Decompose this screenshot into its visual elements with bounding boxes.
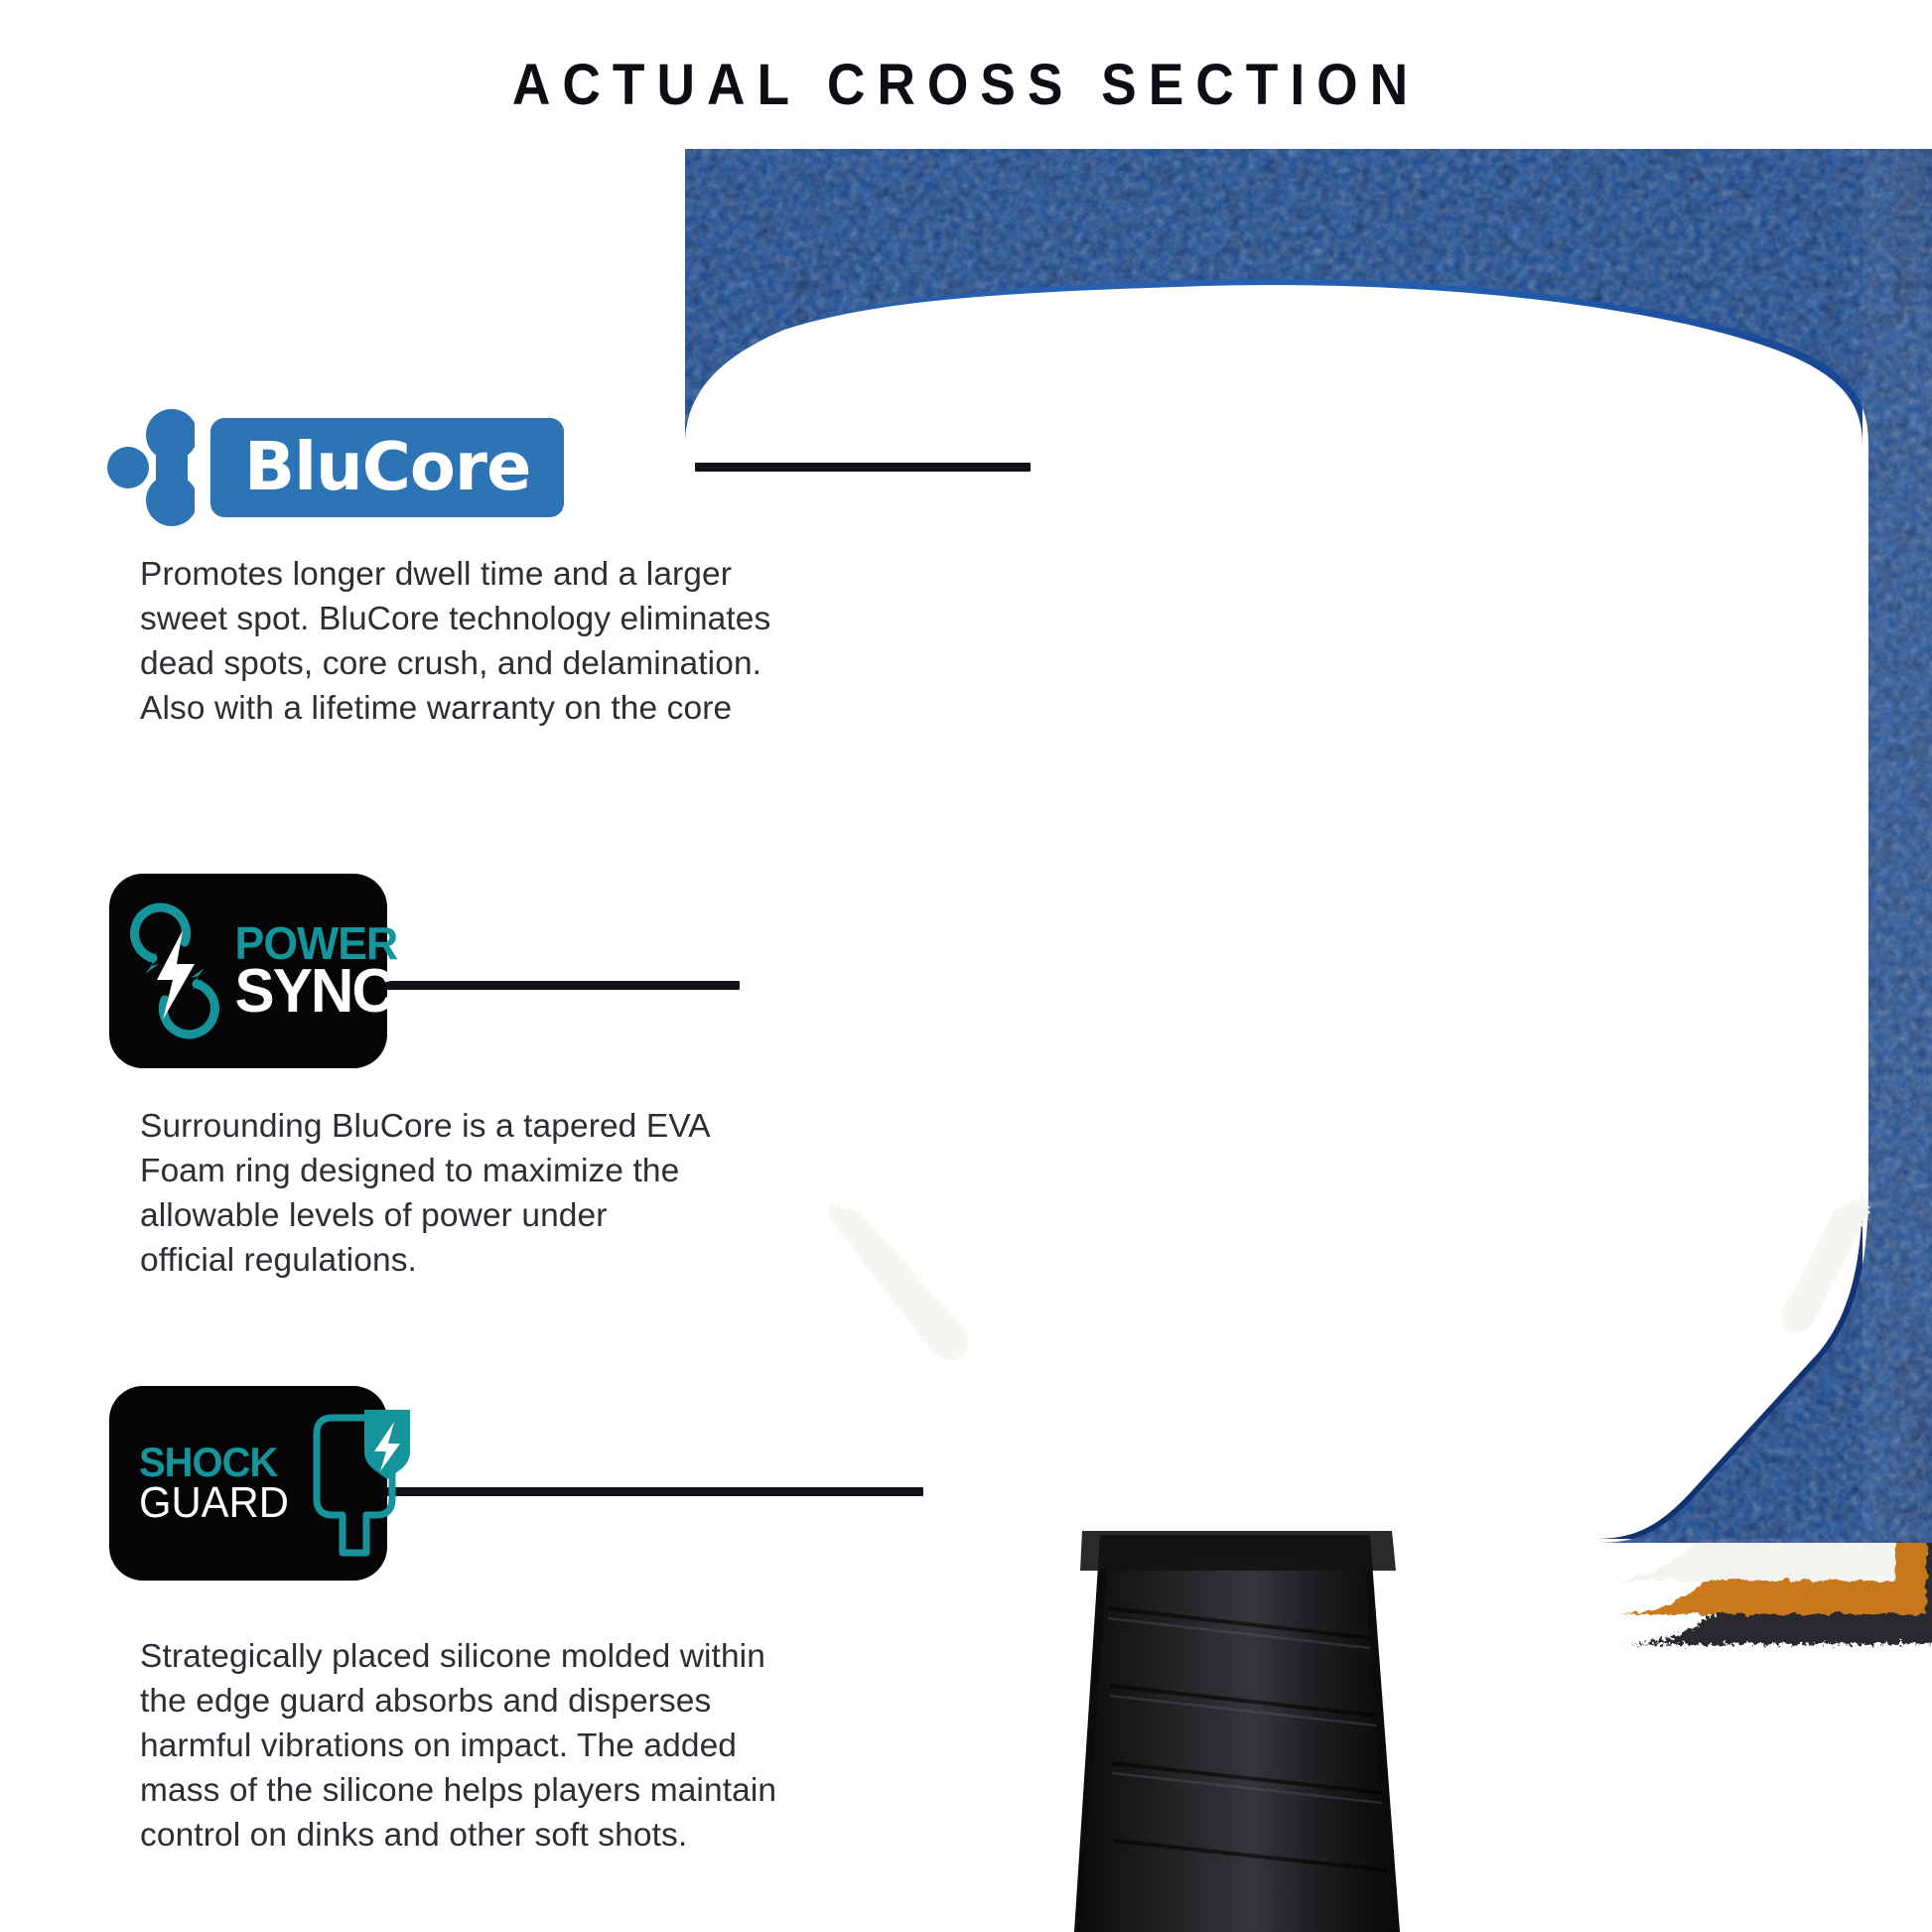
edge-guard-layer — [685, 149, 1932, 1644]
sync-label: SYNC — [235, 963, 398, 1020]
blucore-badge[interactable]: BluCore — [107, 409, 564, 526]
power-sync-wordmark: POWER SYNC — [232, 922, 400, 1019]
orange-layer — [685, 149, 1926, 1614]
paddle-cross-section-photo — [685, 149, 1932, 1932]
blucore-description: Promotes longer dwell time and a larger … — [140, 552, 775, 731]
infographic-canvas: ACTUAL CROSS SECTION — [0, 0, 1932, 1932]
shock-guard-badge[interactable]: SHOCK GUARD — [109, 1386, 387, 1581]
blucore-wordmark-tag: BluCore — [210, 418, 564, 517]
leader-line-power-sync — [343, 981, 740, 990]
shock-label: SHOCK — [139, 1443, 289, 1482]
leader-line-shock-guard — [343, 1487, 923, 1496]
silicone-insert-left — [829, 1205, 968, 1361]
shock-guard-description: Strategically placed silicone molded wit… — [140, 1634, 795, 1858]
sync-lightning-icon — [123, 897, 226, 1045]
guard-label: GUARD — [139, 1482, 289, 1524]
power-sync-description: Surrounding BluCore is a tapered EVA Foa… — [140, 1104, 756, 1283]
page-title: ACTUAL CROSS SECTION — [77, 52, 1855, 118]
leader-line-blucore — [695, 463, 1031, 472]
paddle-illustration — [685, 149, 1932, 1932]
shock-guard-wordmark: SHOCK GUARD — [135, 1443, 293, 1524]
blucore-wordmark: BluCore — [244, 434, 530, 500]
handle-grip — [1074, 1531, 1400, 1932]
molecule-icon — [107, 409, 195, 526]
power-sync-badge[interactable]: POWER SYNC — [109, 874, 387, 1068]
eva-foam-ring-layer — [685, 149, 1894, 1581]
paddle-lightning-icon — [299, 1404, 416, 1563]
